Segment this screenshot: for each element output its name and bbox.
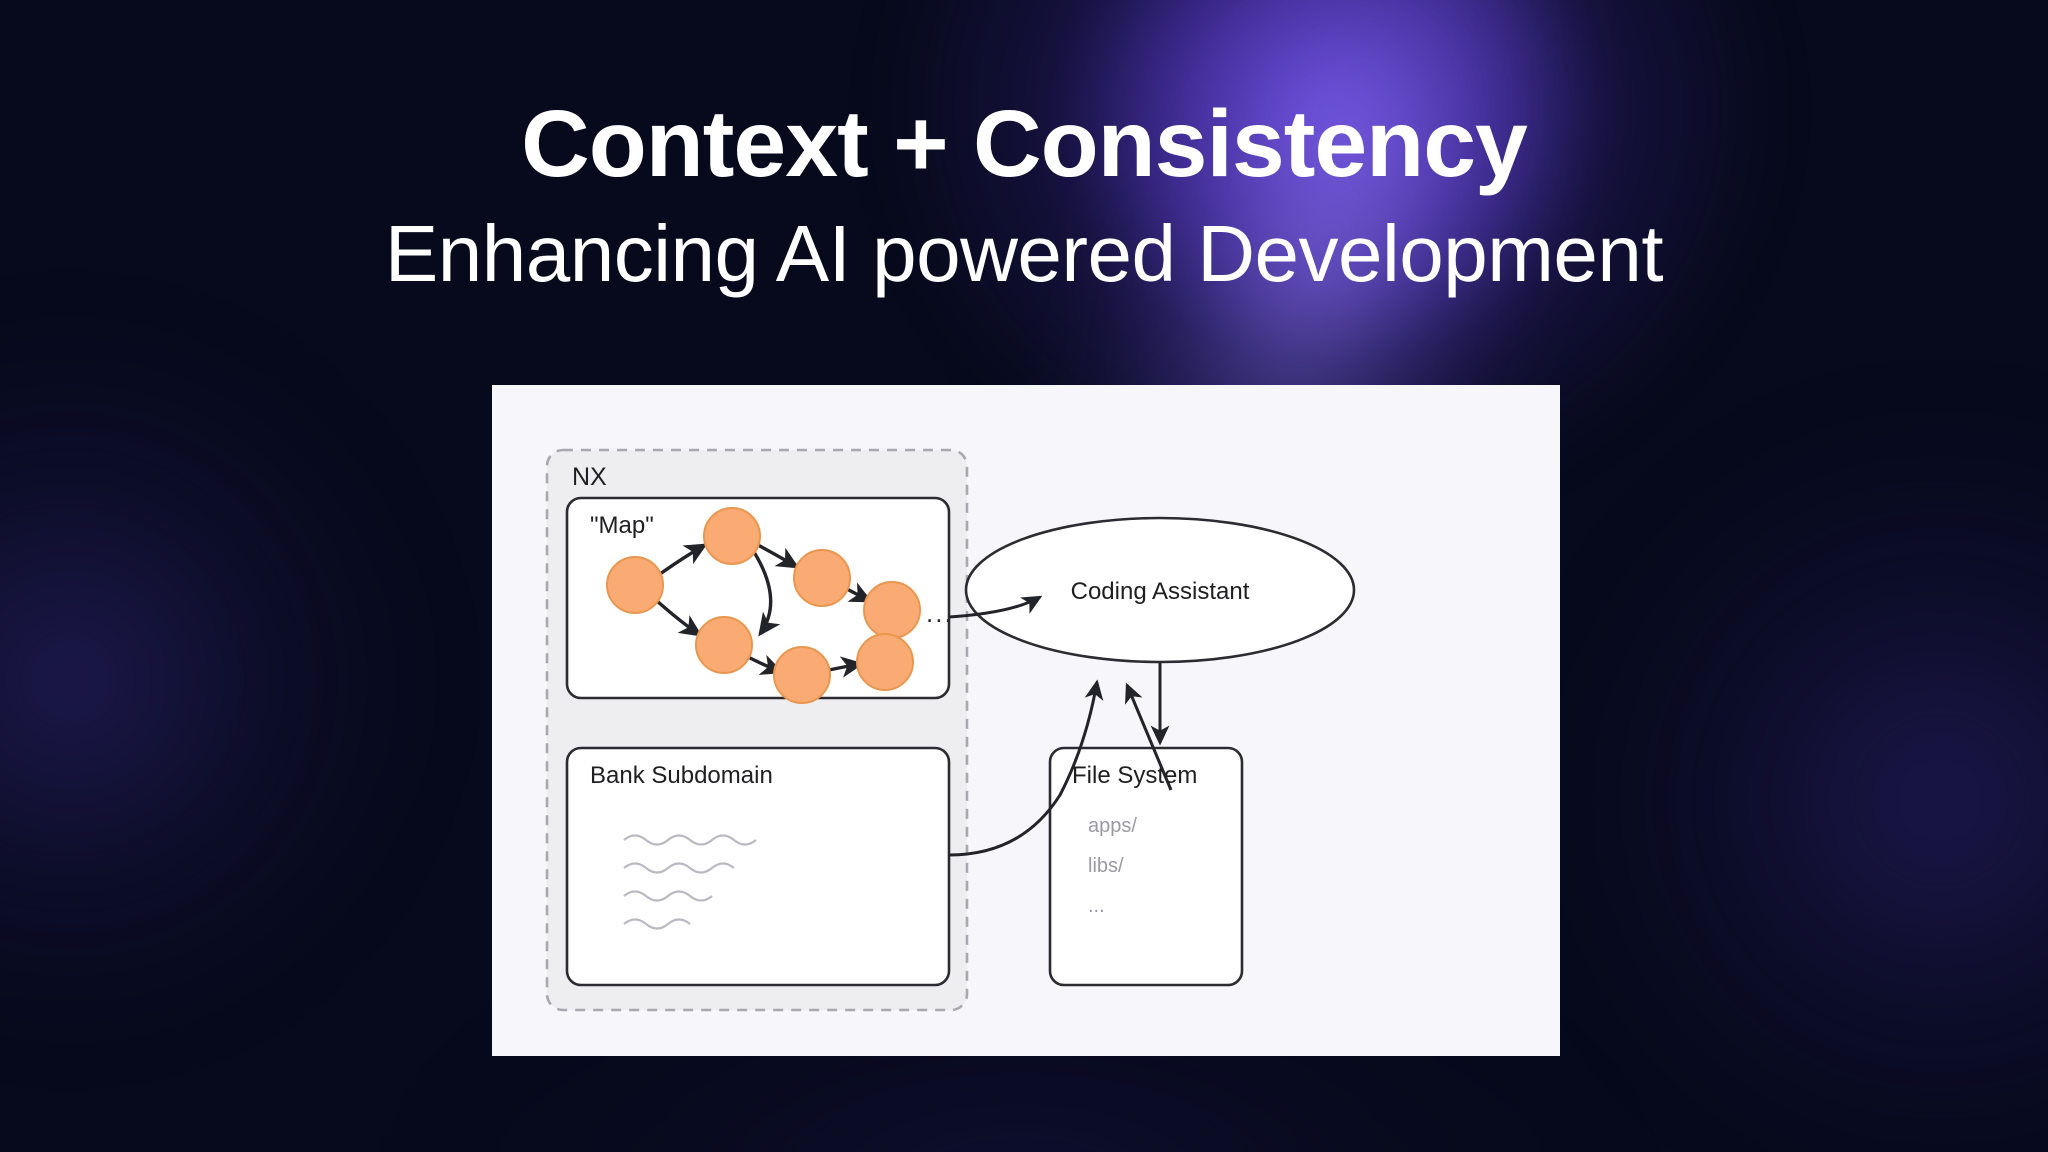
background-glow-left [0, 330, 420, 1030]
graph-node [704, 508, 760, 564]
architecture-diagram-panel: NX "Map" [492, 385, 1560, 1056]
map-graph-ellipsis: ... [926, 598, 954, 628]
graph-node [607, 557, 663, 613]
file-system-box: File System apps/ libs/ ... [1050, 748, 1242, 985]
map-box: "Map" [567, 498, 954, 703]
file-system-entry: apps/ [1088, 815, 1137, 837]
coding-assistant-label: Coding Assistant [1071, 578, 1250, 605]
file-system-entry: ... [1088, 895, 1105, 917]
slide-title: Context + Consistency [0, 96, 2048, 193]
slide-canvas: Context + Consistency Enhancing AI power… [0, 0, 2048, 1152]
slide-subtitle: Enhancing AI powered Development [0, 209, 2048, 299]
background-glow-right [1560, 420, 2048, 1152]
file-system-label: File System [1072, 762, 1197, 789]
graph-node [774, 647, 830, 703]
graph-node [696, 617, 752, 673]
bank-subdomain-label: Bank Subdomain [590, 762, 773, 789]
graph-node [794, 550, 850, 606]
bank-subdomain-box: Bank Subdomain [567, 748, 949, 985]
nx-container-label: NX [572, 463, 607, 491]
graph-node [857, 634, 913, 690]
coding-assistant-node: Coding Assistant [966, 518, 1354, 662]
file-system-entry: libs/ [1088, 855, 1124, 877]
map-box-label: "Map" [590, 512, 654, 539]
slide-heading-block: Context + Consistency Enhancing AI power… [0, 96, 2048, 298]
graph-node [864, 582, 920, 638]
